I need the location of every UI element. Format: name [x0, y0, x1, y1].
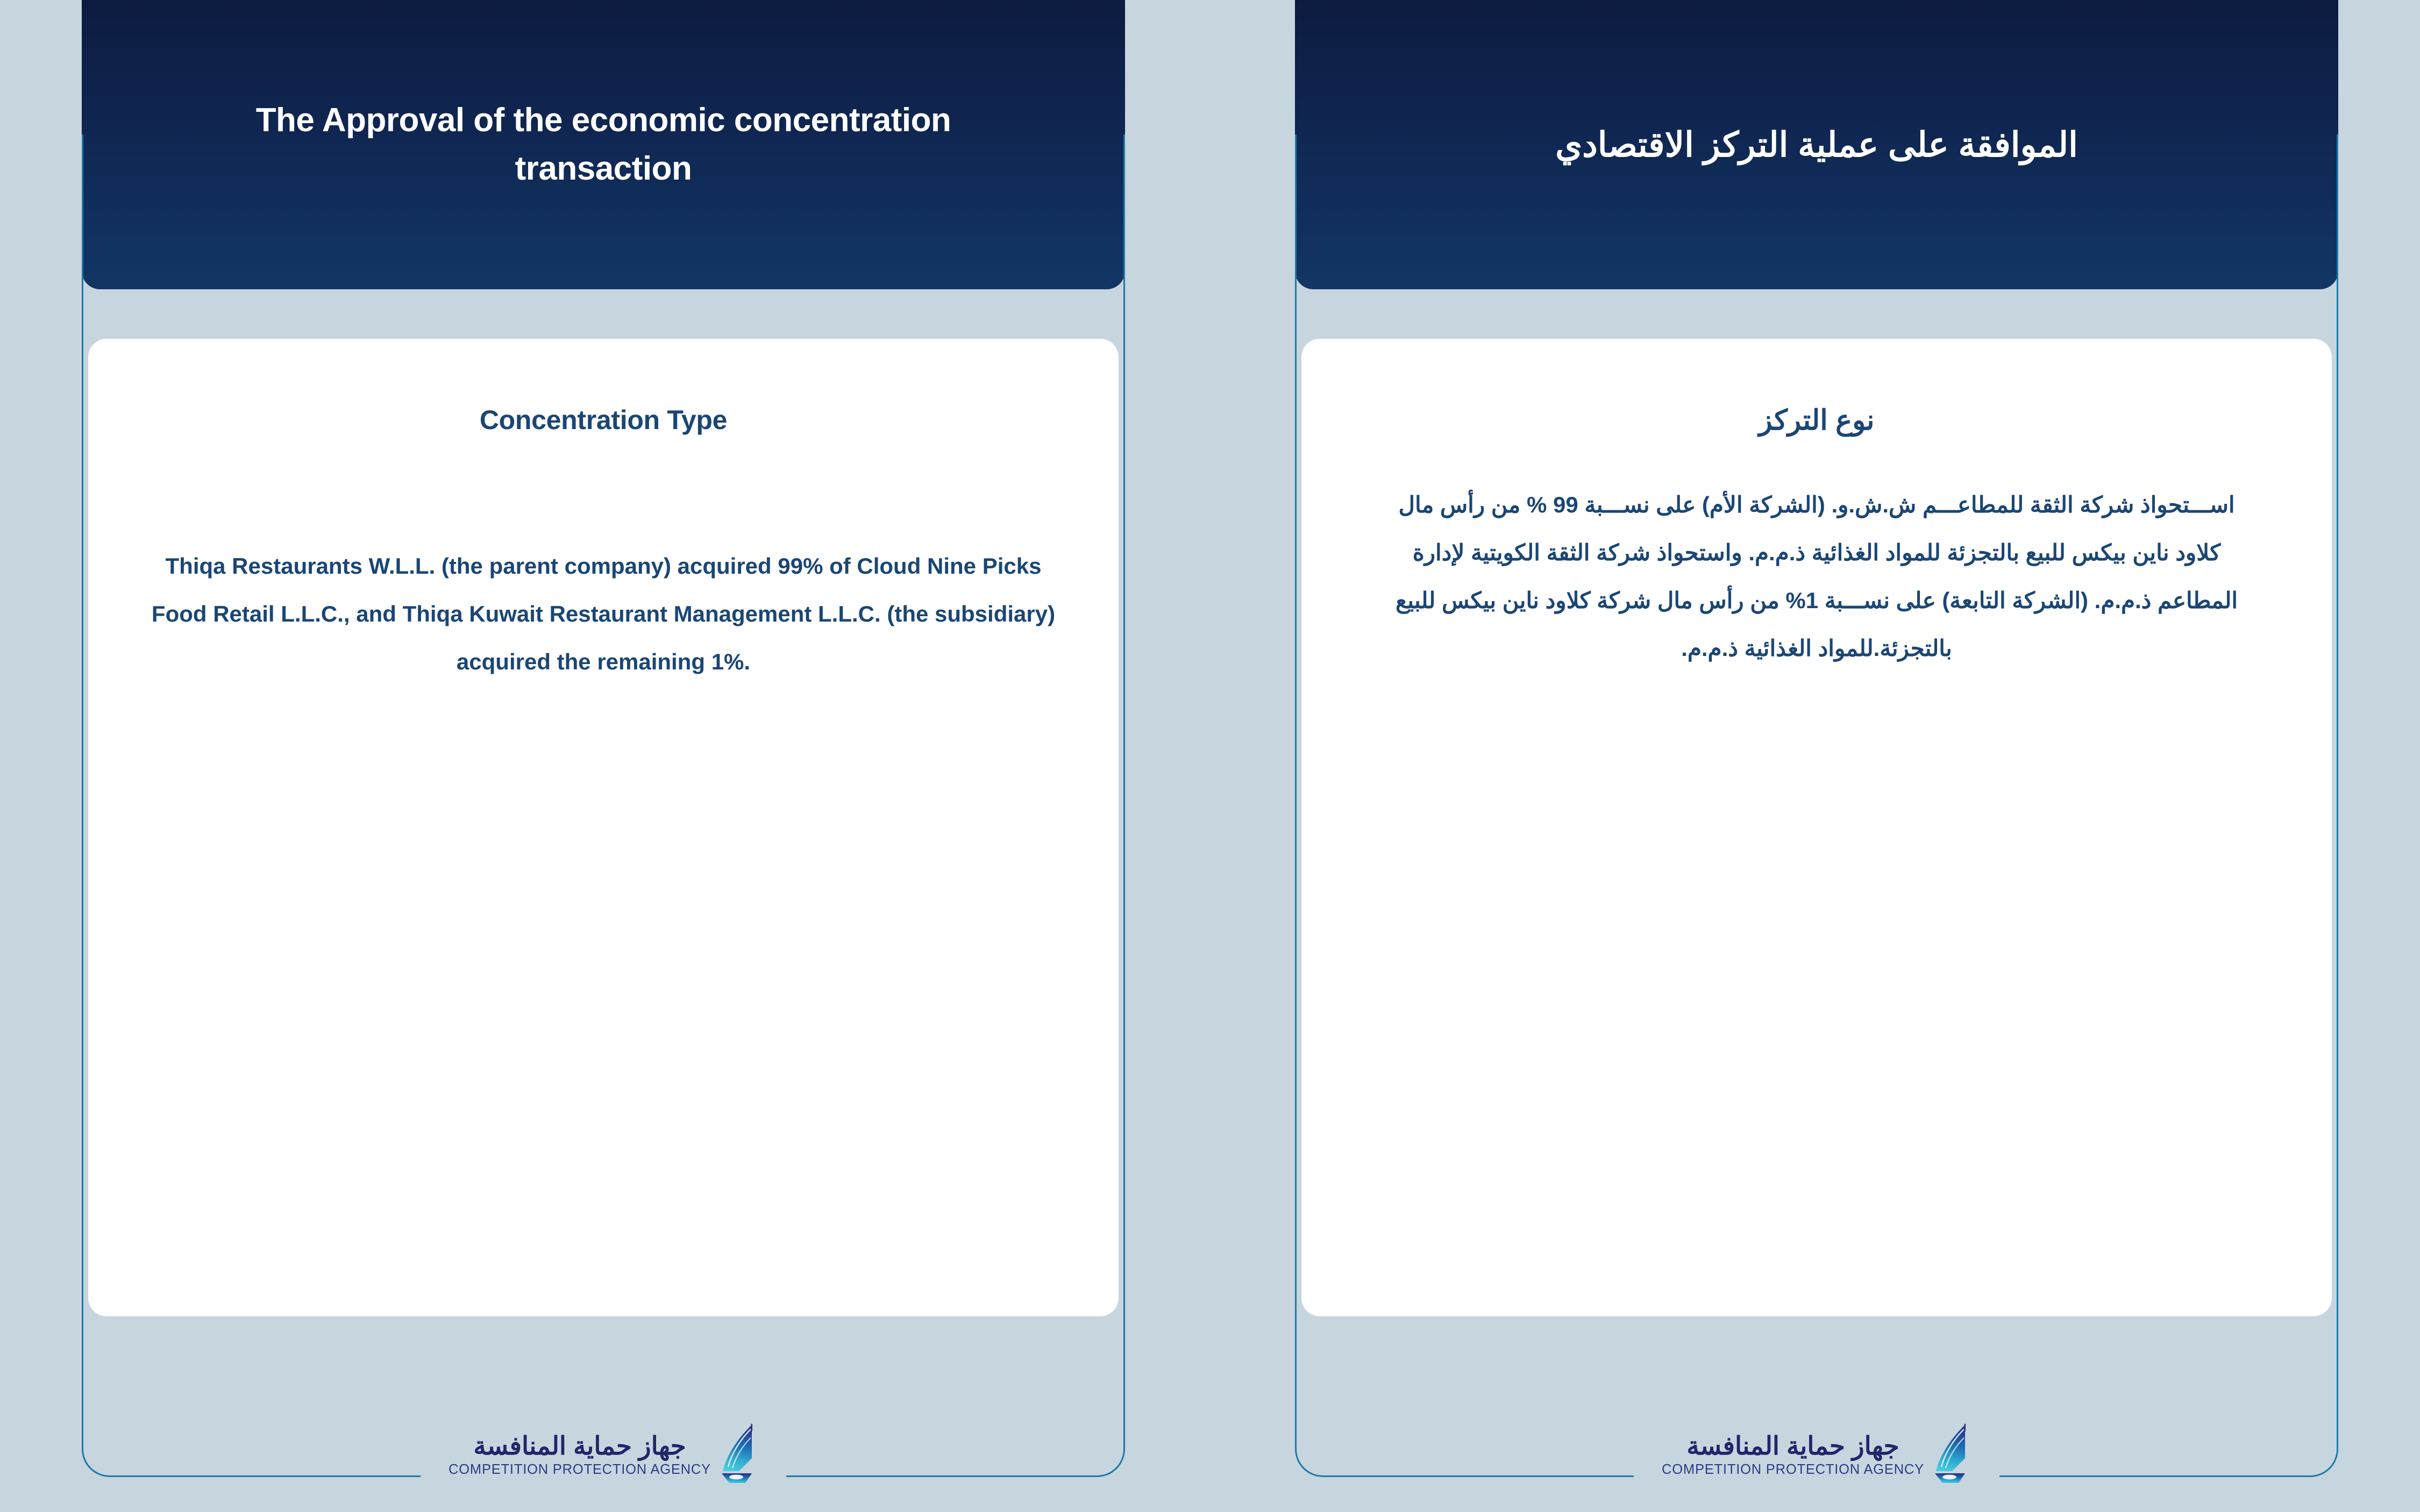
- frame-line-right: [2337, 134, 2338, 1423]
- card-body-arabic: اســـتحواذ شركة الثقة للمطاعـــم ش.ش.و. …: [1340, 481, 2293, 672]
- content-card-arabic: نوع التركز اســـتحواذ شركة الثقة للمطاعـ…: [1301, 339, 2332, 1316]
- footer-logo-english: جهاز حماية المنافسة COMPETITION PROTECTI…: [82, 1424, 1125, 1484]
- column-arabic: الموافقة على عملية التركز الاقتصادي نوع …: [1210, 0, 2420, 1512]
- logo-english-name: COMPETITION PROTECTION AGENCY: [449, 1463, 711, 1477]
- poster-page: The Approval of the economic concentrati…: [0, 0, 2420, 1512]
- logo-arabic-name: جهاز حماية المنافسة: [473, 1431, 686, 1461]
- header-banner-arabic: الموافقة على عملية التركز الاقتصادي: [1295, 0, 2338, 289]
- frame-line-left: [82, 134, 83, 1423]
- logo-arabic-name: جهاز حماية المنافسة: [1686, 1431, 1899, 1461]
- header-title-arabic: الموافقة على عملية التركز الاقتصادي: [1555, 120, 2078, 169]
- column-english: The Approval of the economic concentrati…: [0, 0, 1210, 1512]
- content-card-english: Concentration Type Thiqa Restaurants W.L…: [88, 339, 1119, 1316]
- header-banner-english: The Approval of the economic concentrati…: [82, 0, 1125, 289]
- logo-english-name: COMPETITION PROTECTION AGENCY: [1662, 1463, 1924, 1477]
- card-title-english: Concentration Type: [127, 404, 1080, 436]
- footer-logo-arabic: جهاز حماية المنافسة COMPETITION PROTECTI…: [1295, 1424, 2338, 1484]
- card-title-arabic: نوع التركز: [1340, 404, 2293, 437]
- frame-line-left: [1295, 134, 1297, 1423]
- header-title-english: The Approval of the economic concentrati…: [200, 96, 1007, 193]
- agency-sail-logo-icon: [718, 1424, 758, 1484]
- frame-line-right: [1123, 134, 1125, 1423]
- agency-sail-logo-icon: [1932, 1424, 1971, 1484]
- card-body-english: Thiqa Restaurants W.L.L. (the parent com…: [127, 542, 1080, 686]
